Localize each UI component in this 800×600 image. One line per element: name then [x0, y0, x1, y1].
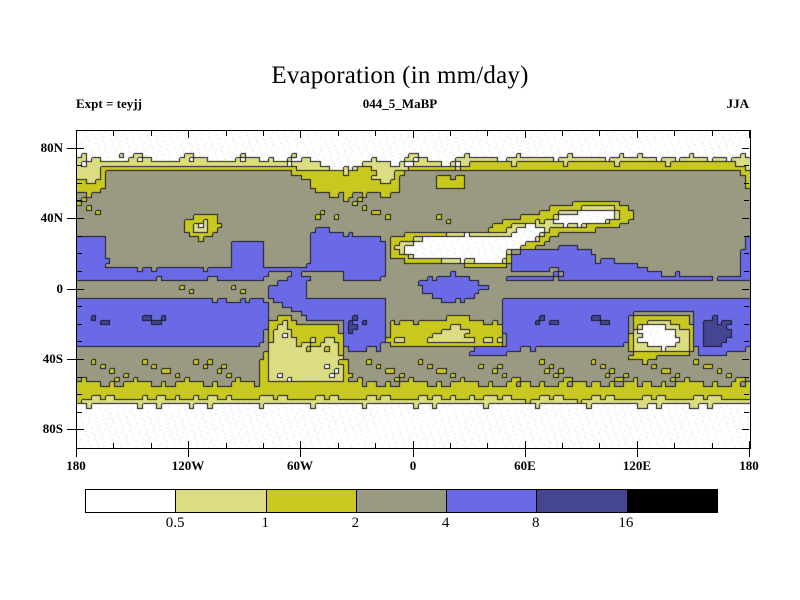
x-tick-inner [300, 441, 301, 448]
y-tick-major [67, 148, 76, 149]
x-axis-label: 0 [410, 458, 417, 474]
y-tick-right [742, 429, 749, 430]
climate-map-figure: Evaporation (in mm/day) 044_5_MaBP Expt … [0, 0, 800, 600]
y-tick-minor-right [744, 341, 749, 342]
x-tick-top [300, 131, 301, 138]
y-tick-minor [77, 394, 82, 395]
y-tick-inner [77, 359, 84, 360]
x-axis-label: 60W [287, 458, 313, 474]
y-tick-minor [77, 236, 82, 237]
y-tick-major [67, 359, 76, 360]
x-tick-major [637, 448, 638, 457]
y-tick-minor-right [744, 165, 749, 166]
y-tick-major [67, 289, 76, 290]
x-tick-inner [413, 441, 414, 448]
x-tick-minor-top [338, 131, 339, 136]
x-tick-minor [263, 443, 264, 448]
x-tick-minor-top [113, 131, 114, 136]
x-tick-major [749, 448, 750, 457]
x-tick-top [525, 131, 526, 138]
x-tick-inner [188, 441, 189, 448]
y-tick-minor-right [744, 324, 749, 325]
x-tick-top [413, 131, 414, 138]
x-tick-top [188, 131, 189, 138]
y-tick-minor [77, 412, 82, 413]
y-tick-inner [77, 289, 84, 290]
y-tick-minor [77, 306, 82, 307]
y-axis-label: 40S [43, 351, 63, 367]
y-tick-inner [77, 218, 84, 219]
x-axis-label: 180 [739, 458, 759, 474]
x-axis-label: 180 [66, 458, 86, 474]
colorbar-tick-label: 2 [352, 515, 360, 532]
y-tick-minor-right [744, 271, 749, 272]
x-tick-minor [599, 443, 600, 448]
x-tick-inner [637, 441, 638, 448]
y-axis-label: 80N [41, 140, 63, 156]
x-tick-minor [450, 443, 451, 448]
y-tick-minor-right [744, 412, 749, 413]
x-tick-minor [375, 443, 376, 448]
y-tick-minor-right [744, 183, 749, 184]
x-tick-top [76, 131, 77, 138]
x-tick-inner [525, 441, 526, 448]
x-tick-minor [151, 443, 152, 448]
y-axis-label: 40N [41, 210, 63, 226]
x-tick-minor-top [375, 131, 376, 136]
x-tick-minor [113, 443, 114, 448]
colorbar-tick-label: 8 [532, 515, 540, 532]
x-tick-minor-top [487, 131, 488, 136]
x-tick-inner [749, 441, 750, 448]
x-tick-major [525, 448, 526, 457]
page-title: Evaporation (in mm/day) [0, 62, 800, 90]
x-tick-inner [76, 441, 77, 448]
x-tick-major [300, 448, 301, 457]
y-tick-minor-right [744, 306, 749, 307]
x-tick-major [76, 448, 77, 457]
y-axis-label: 80S [43, 421, 63, 437]
y-tick-major [67, 218, 76, 219]
y-tick-minor [77, 377, 82, 378]
y-tick-minor [77, 271, 82, 272]
x-tick-top [749, 131, 750, 138]
colorbar-band-5 [536, 490, 626, 512]
x-tick-minor [712, 443, 713, 448]
x-tick-minor-top [599, 131, 600, 136]
x-tick-minor [562, 443, 563, 448]
y-tick-minor [77, 200, 82, 201]
x-axis-label: 120E [623, 458, 651, 474]
colorbar-tick-label: 0.5 [166, 515, 185, 532]
colorbar-band-2 [266, 490, 356, 512]
y-tick-minor-right [744, 394, 749, 395]
x-tick-minor [487, 443, 488, 448]
y-tick-minor [77, 324, 82, 325]
y-tick-minor [77, 253, 82, 254]
y-tick-right [742, 359, 749, 360]
y-tick-right [742, 218, 749, 219]
x-tick-major [413, 448, 414, 457]
y-tick-minor-right [744, 253, 749, 254]
y-axis-label: 0 [57, 281, 64, 297]
colorbar-band-3 [356, 490, 446, 512]
x-tick-minor [674, 443, 675, 448]
colorbar [85, 489, 718, 513]
y-tick-minor-right [744, 236, 749, 237]
season-label: JJA [727, 96, 749, 112]
x-axis-label: 120W [172, 458, 205, 474]
x-tick-minor-top [712, 131, 713, 136]
x-tick-top [637, 131, 638, 138]
y-tick-inner [77, 148, 84, 149]
x-tick-minor [226, 443, 227, 448]
y-tick-minor-right [744, 200, 749, 201]
x-tick-minor-top [151, 131, 152, 136]
y-tick-major [67, 429, 76, 430]
x-tick-minor-top [226, 131, 227, 136]
colorbar-tick-label: 16 [618, 515, 633, 532]
evaporation-contour-map [77, 131, 750, 448]
colorbar-band-1 [175, 490, 265, 512]
colorbar-band-0 [86, 490, 175, 512]
colorbar-band-6 [627, 490, 717, 512]
experiment-label: Expt = teyjj [76, 96, 142, 112]
x-tick-minor-top [263, 131, 264, 136]
x-tick-major [188, 448, 189, 457]
x-tick-minor-top [562, 131, 563, 136]
y-tick-right [742, 289, 749, 290]
y-tick-minor [77, 183, 82, 184]
y-tick-minor [77, 165, 82, 166]
x-tick-minor [338, 443, 339, 448]
y-tick-right [742, 148, 749, 149]
colorbar-band-4 [446, 490, 536, 512]
x-tick-minor-top [450, 131, 451, 136]
x-tick-minor-top [674, 131, 675, 136]
map-plot-area [76, 130, 751, 449]
y-tick-minor [77, 341, 82, 342]
x-axis-label: 60E [514, 458, 536, 474]
y-tick-inner [77, 429, 84, 430]
y-tick-minor-right [744, 377, 749, 378]
colorbar-tick-label: 4 [442, 515, 450, 532]
colorbar-tick-label: 1 [262, 515, 270, 532]
